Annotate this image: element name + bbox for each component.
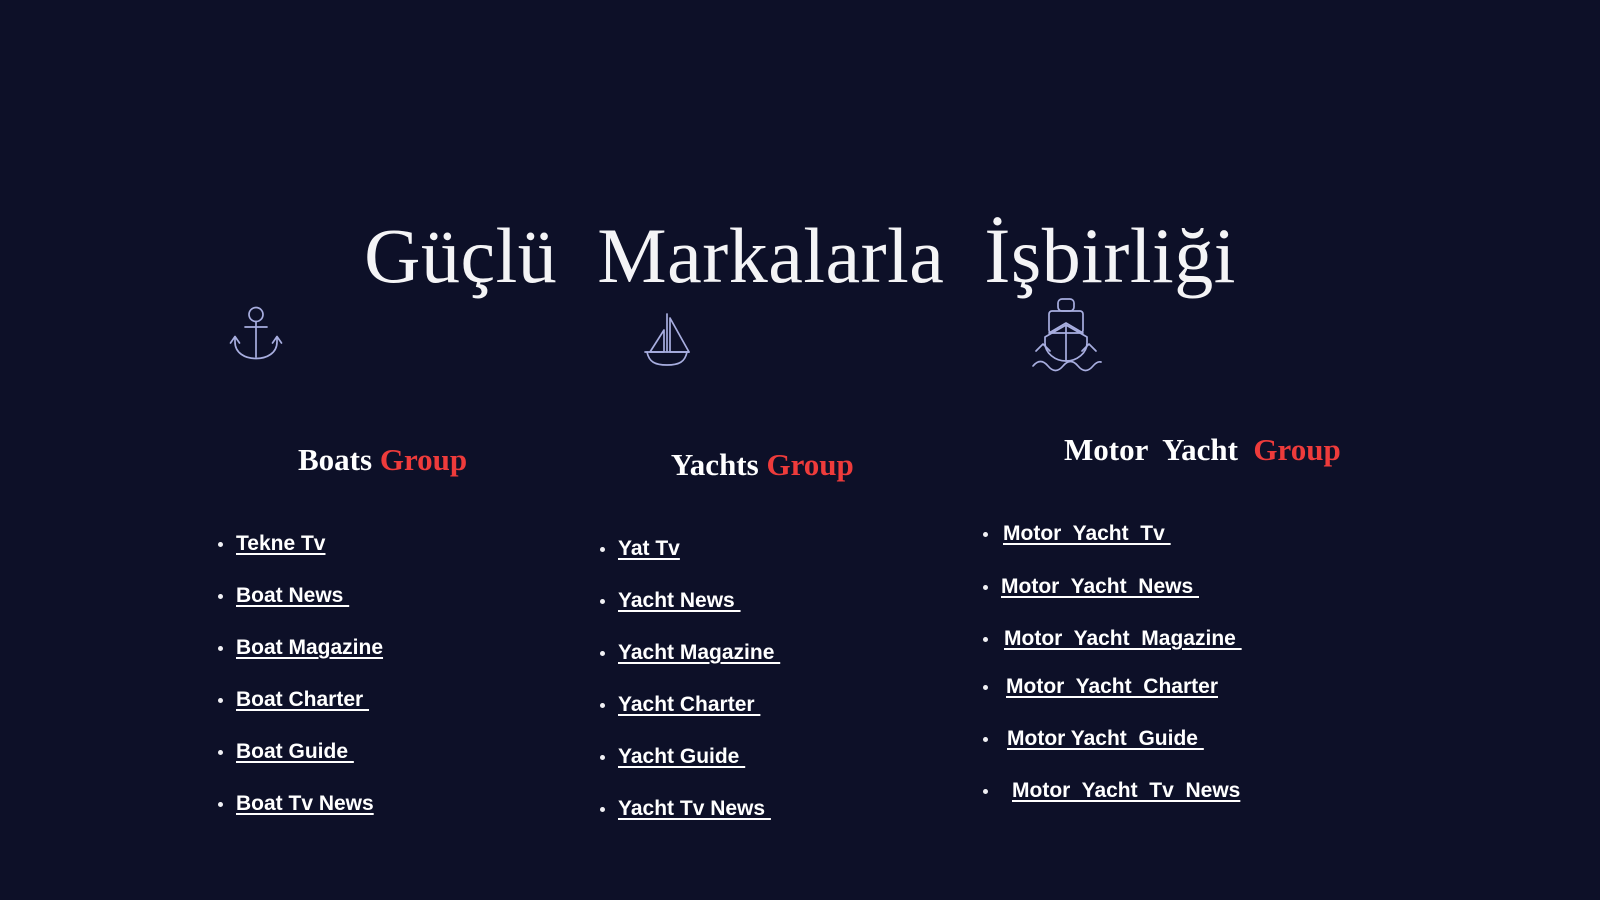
brand-link[interactable]: Motor Yacht News [1001, 575, 1199, 598]
heading-main: Yachts [671, 447, 767, 482]
anchor-icon [200, 295, 590, 383]
brand-link[interactable]: Yacht Tv News [618, 797, 771, 820]
brand-list-boats: Tekne Tv Boat News Boat Magazine Boat Ch… [200, 517, 590, 819]
brand-columns: Boats Group Tekne Tv Boat News Boat Maga… [0, 295, 1600, 765]
page-title: Güçlü Markalarla İşbirliği [0, 210, 1600, 302]
bullet-icon [218, 594, 223, 599]
brand-link[interactable]: Tekne Tv [236, 532, 325, 555]
heading-accent: Group [380, 442, 467, 477]
bullet-icon [983, 532, 988, 537]
bullet-icon [218, 542, 223, 547]
bullet-icon [983, 685, 988, 690]
brand-link[interactable]: Motor Yacht Magazine [1004, 627, 1242, 650]
list-item: Motor Yacht Tv News [979, 778, 1395, 806]
list-item: Boat Magazine [214, 635, 590, 663]
brand-column-boats: Boats Group Tekne Tv Boat News Boat Maga… [200, 295, 590, 819]
brand-link[interactable]: Motor Yacht Guide [1007, 727, 1204, 750]
brand-link[interactable]: Yacht Charter [618, 693, 760, 716]
brand-list-motor-yacht: Motor Yacht Tv Motor Yacht News Motor Ya… [975, 507, 1395, 806]
bullet-icon [218, 750, 223, 755]
brand-link[interactable]: Motor Yacht Charter [1006, 675, 1218, 698]
heading-main: Motor Yacht [1064, 432, 1253, 467]
bullet-icon [983, 789, 988, 794]
bullet-icon [600, 703, 605, 708]
brand-link[interactable]: Yacht News [618, 589, 741, 612]
brand-link[interactable]: Boat Charter [236, 688, 369, 711]
heading-accent: Group [766, 447, 853, 482]
bullet-icon [983, 637, 988, 642]
sailboat-icon [590, 295, 980, 388]
bullet-icon [600, 651, 605, 656]
brand-link[interactable]: Motor Yacht Tv [1003, 522, 1171, 545]
brand-link[interactable]: Yacht Magazine [618, 641, 780, 664]
list-item: Yacht Guide [596, 744, 980, 772]
list-item: Boat News [214, 583, 590, 611]
brand-link[interactable]: Boat Guide [236, 740, 354, 763]
column-heading: Boats Group [200, 383, 590, 517]
list-item: Yacht Magazine [596, 640, 980, 668]
brand-link[interactable]: Boat Tv News [236, 792, 374, 815]
motor-yacht-icon [975, 295, 1395, 373]
brand-link[interactable]: Boat News [236, 584, 349, 607]
brand-link[interactable]: Boat Magazine [236, 636, 383, 659]
list-item: Motor Yacht News [979, 574, 1395, 602]
list-item: Yacht Charter [596, 692, 980, 720]
bullet-icon [218, 698, 223, 703]
list-item: Motor Yacht Tv [979, 521, 1395, 549]
bullet-icon [983, 737, 988, 742]
brand-partners-page: Güçlü Markalarla İşbirliği Boats Group [0, 0, 1600, 900]
brand-column-motor-yacht: Motor Yacht Group Motor Yacht Tv Motor Y… [975, 295, 1395, 806]
list-item: Yacht Tv News [596, 796, 980, 824]
bullet-icon [983, 585, 988, 590]
bullet-icon [600, 547, 605, 552]
brand-link[interactable]: Yat Tv [618, 537, 680, 560]
brand-link[interactable]: Yacht Guide [618, 745, 745, 768]
bullet-icon [600, 599, 605, 604]
list-item: Motor Yacht Charter [979, 674, 1395, 702]
list-item: Boat Charter [214, 687, 590, 715]
heading-main: Boats [298, 442, 380, 477]
list-item: Motor Yacht Guide [979, 726, 1395, 754]
brand-list-yachts: Yat Tv Yacht News Yacht Magazine Yacht C… [590, 522, 980, 824]
column-heading: Motor Yacht Group [975, 373, 1395, 507]
brand-link[interactable]: Motor Yacht Tv News [1012, 779, 1240, 802]
bullet-icon [218, 646, 223, 651]
list-item: Motor Yacht Magazine [979, 626, 1395, 654]
bullet-icon [600, 755, 605, 760]
list-item: Boat Guide [214, 739, 590, 767]
list-item: Yat Tv [596, 536, 980, 564]
list-item: Tekne Tv [214, 531, 590, 559]
column-heading: Yachts Group [590, 388, 980, 522]
bullet-icon [218, 802, 223, 807]
brand-column-yachts: Yachts Group Yat Tv Yacht News Yacht Mag… [590, 295, 980, 824]
bullet-icon [600, 807, 605, 812]
heading-accent: Group [1253, 432, 1340, 467]
list-item: Yacht News [596, 588, 980, 616]
list-item: Boat Tv News [214, 791, 590, 819]
